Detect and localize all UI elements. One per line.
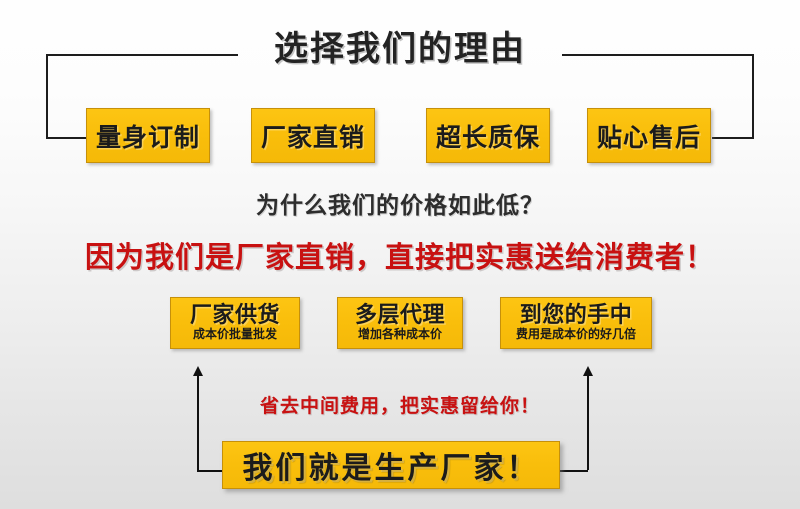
- promo-poster: 选择我们的理由 量身订制 厂家直销 超长质保 贴心售后 为什么我们的价格如此低？…: [0, 0, 800, 509]
- chain-box-2-sub: 增加各种成本价: [358, 328, 442, 342]
- savings-note: 省去中间费用，把实惠留给你！: [0, 391, 800, 418]
- question-headline: 为什么我们的价格如此低？: [0, 186, 800, 220]
- bracket-line-right-vertical: [752, 54, 754, 139]
- bracket-line-left-vertical: [46, 54, 48, 139]
- chain-box-3[interactable]: 到您的手中 费用是成本价的好几倍: [500, 297, 652, 349]
- page-title: 选择我们的理由: [268, 21, 532, 70]
- bracket-line-right-top: [562, 54, 754, 56]
- reason-box-1-label: 量身订制: [96, 118, 200, 154]
- bracket-foot-left: [46, 137, 88, 139]
- factory-banner[interactable]: 我们就是生产厂家！: [222, 441, 560, 489]
- chain-box-3-sub: 费用是成本价的好几倍: [516, 328, 636, 342]
- reason-box-3-label: 超长质保: [436, 118, 540, 154]
- reason-box-1[interactable]: 量身订制: [86, 108, 210, 163]
- reason-box-2-label: 厂家直销: [261, 118, 365, 154]
- reason-box-4[interactable]: 贴心售后: [587, 108, 711, 163]
- chain-box-1-sub: 成本价批量批发: [193, 328, 277, 342]
- reason-box-3[interactable]: 超长质保: [426, 108, 550, 163]
- answer-headline: 因为我们是厂家直销，直接把实惠送给消费者！: [0, 234, 800, 276]
- chain-box-3-label: 到您的手中: [520, 304, 633, 327]
- reason-box-2[interactable]: 厂家直销: [251, 108, 375, 163]
- chain-box-2-label: 多层代理: [355, 304, 445, 327]
- arrow-up-left-foot: [197, 470, 223, 472]
- bracket-foot-right: [712, 137, 754, 139]
- factory-banner-label: 我们就是生产厂家！: [243, 443, 540, 487]
- chain-box-1-label: 厂家供货: [190, 304, 280, 327]
- bracket-line-left-top: [46, 54, 238, 56]
- arrow-up-right-foot: [560, 470, 588, 472]
- chain-box-2[interactable]: 多层代理 增加各种成本价: [337, 297, 463, 349]
- arrow-up-left-stem: [197, 375, 199, 470]
- reason-box-4-label: 贴心售后: [597, 118, 701, 154]
- chain-box-1[interactable]: 厂家供货 成本价批量批发: [170, 297, 300, 349]
- poster-title-row: 选择我们的理由: [0, 22, 800, 68]
- arrow-up-right-stem: [587, 375, 589, 470]
